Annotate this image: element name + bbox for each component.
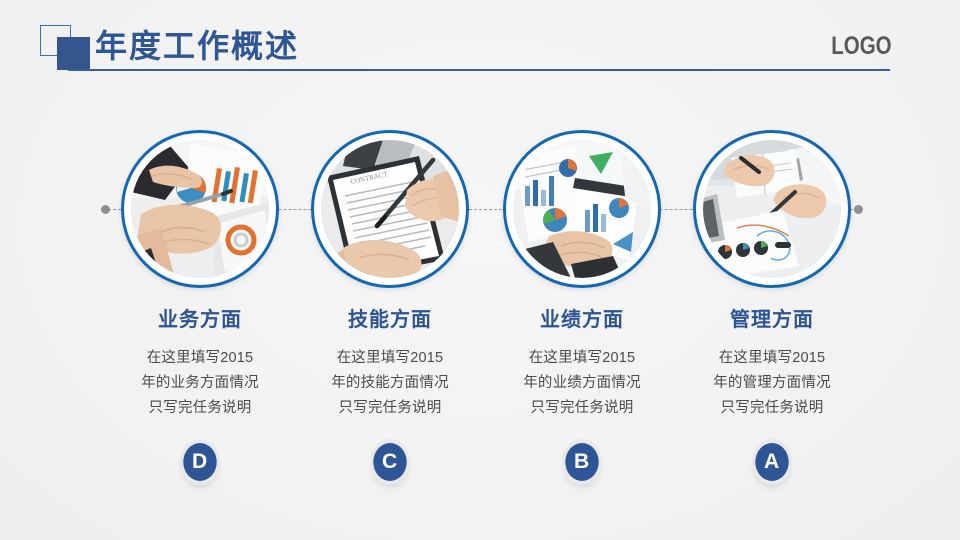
page-title: 年度工作概述	[95, 24, 299, 68]
badge-a-label: A	[764, 443, 779, 481]
column-1-body: 在这里填写2015 年的业务方面情况 只写完任务说明	[100, 346, 300, 421]
column-3: 业绩方面 在这里填写2015 年的业绩方面情况 只写完任务说明	[482, 130, 682, 421]
header-divider	[68, 69, 890, 71]
badge-c[interactable]: C	[373, 443, 406, 481]
badge-c-label: C	[382, 443, 397, 481]
column-4-body: 在这里填写2015 年的管理方面情况 只写完任务说明	[672, 346, 872, 421]
badge-d-label: D	[192, 443, 207, 481]
column-1: 业务方面 在这里填写2015 年的业务方面情况 只写完任务说明	[100, 130, 300, 421]
badge-b[interactable]: B	[565, 443, 598, 481]
column-4: 管理方面 在这里填写2015 年的管理方面情况 只写完任务说明	[672, 130, 872, 421]
column-2-heading: 技能方面	[290, 307, 490, 333]
photo-analyzing-charts-with-pen-and-tablet	[131, 140, 269, 278]
badge-a[interactable]: A	[755, 443, 788, 481]
circle-photo-3[interactable]	[503, 130, 661, 288]
column-3-heading: 业绩方面	[482, 307, 682, 333]
badge-d[interactable]: D	[183, 443, 216, 481]
photo-reviewing-printed-report-charts	[513, 140, 651, 278]
photo-team-taking-notes-at-desk	[703, 140, 841, 278]
circle-photo-2[interactable]: CONTRACT	[311, 130, 469, 288]
column-2: CONTRACT	[290, 130, 490, 421]
column-2-body: 在这里填写2015 年的技能方面情况 只写完任务说明	[290, 346, 490, 421]
photo-signing-contract-document: CONTRACT	[321, 140, 459, 278]
circle-photo-1[interactable]	[121, 130, 279, 288]
logo-placeholder: LOGO	[832, 30, 892, 62]
circle-photo-4[interactable]	[693, 130, 851, 288]
column-1-heading: 业务方面	[100, 307, 300, 333]
header-square-filled-icon	[57, 37, 90, 70]
column-4-heading: 管理方面	[672, 307, 872, 333]
slide-canvas: 年度工作概述 LOGO	[0, 0, 960, 540]
column-3-body: 在这里填写2015 年的业绩方面情况 只写完任务说明	[482, 346, 682, 421]
badge-b-label: B	[574, 443, 589, 481]
